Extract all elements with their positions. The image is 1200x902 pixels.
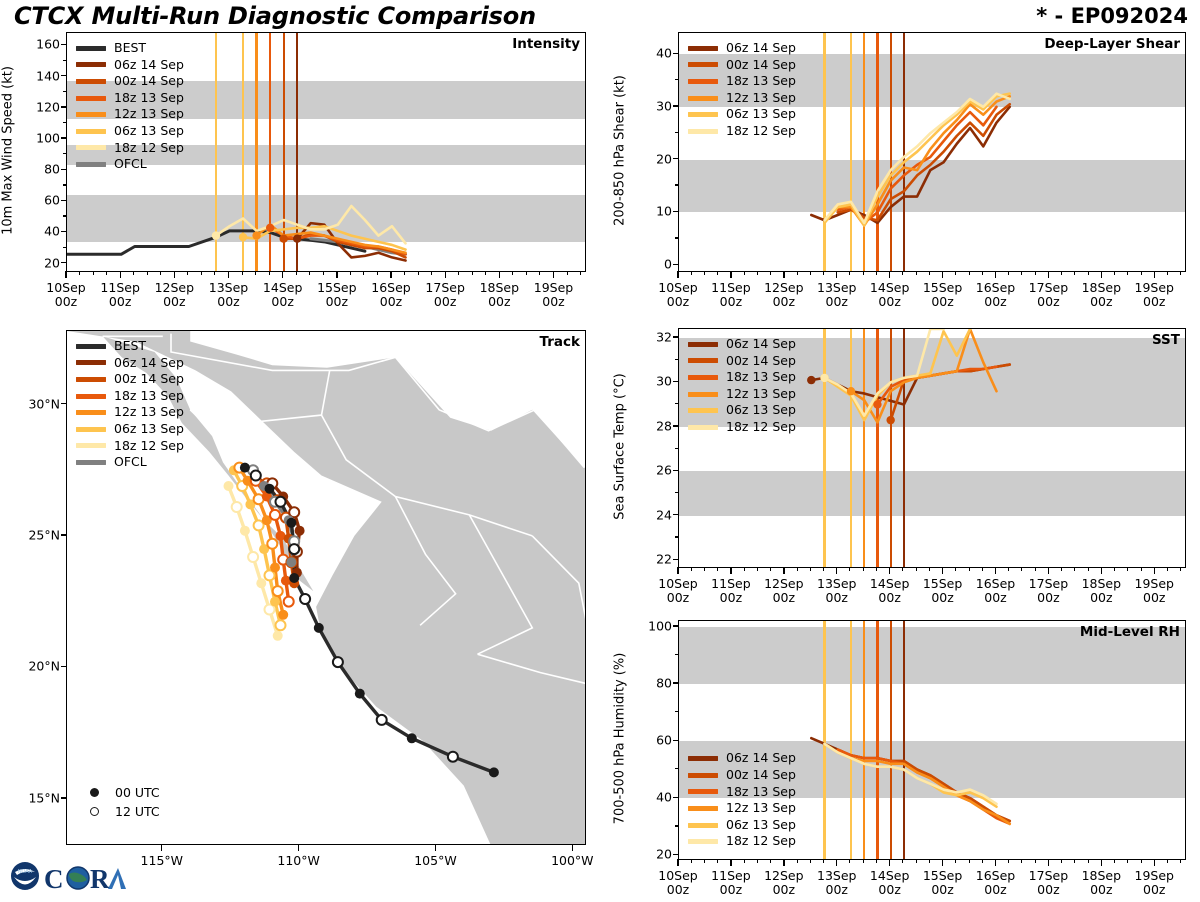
x-minor-tick (580, 271, 581, 275)
track-marker-12utc (448, 752, 458, 762)
x-tick-label: 11Sep00z (100, 281, 139, 310)
legend-label: 12z 13 Sep (114, 108, 184, 121)
x-tick-mark (889, 271, 890, 278)
x-minor-tick (160, 271, 161, 275)
legend-item[interactable]: 12z 13 Sep (76, 404, 184, 421)
legend-label: 12z 13 Sep (114, 406, 184, 419)
x-tick-mark (677, 567, 678, 574)
legend-item[interactable]: 06z 14 Sep (688, 40, 796, 57)
track-marker-12utc (267, 539, 277, 549)
legend-item[interactable]: 12z 13 Sep (688, 386, 796, 403)
track-marker-12utc (333, 657, 343, 667)
x-minor-tick (717, 271, 718, 275)
legend-item[interactable]: 06z 14 Sep (688, 750, 796, 767)
panel-sst: SST222426283032Sea Surface Temp (°C)10Se… (678, 328, 1186, 568)
legend-item[interactable]: 06z 14 Sep (76, 57, 184, 74)
x-tick-label: 11Sep00z (711, 577, 750, 606)
legend-item[interactable]: 18z 12 Sep (688, 833, 796, 850)
init-marker (279, 235, 287, 243)
legend-item[interactable]: 18z 12 Sep (76, 438, 184, 455)
x-tick-label: 17Sep00z (425, 281, 464, 310)
legend-item[interactable]: 18z 13 Sep (688, 73, 796, 90)
x-tick-mark (120, 271, 121, 278)
x-minor-tick (1167, 271, 1168, 275)
storm-identifier: * - EP092024 (1036, 4, 1188, 28)
y-tick-label: 24 (638, 507, 672, 522)
x-minor-tick (929, 271, 930, 275)
init-marker (807, 376, 815, 384)
x-tick-mark (995, 859, 996, 866)
x-minor-tick (309, 271, 310, 275)
x-tick-label: 13Sep00z (209, 281, 248, 310)
y-tick-label: 20 (638, 151, 672, 166)
y-tick-label: 20 (26, 255, 60, 270)
x-tick-label: 14Sep00z (870, 869, 909, 898)
x-tick-mark (65, 271, 66, 278)
legend-color-swatch (688, 342, 718, 347)
legend-color-swatch (76, 79, 106, 84)
legend-label: BEST (114, 42, 146, 55)
legend-label: 18z 13 Sep (726, 75, 796, 88)
legend-item[interactable]: 06z 13 Sep (688, 817, 796, 834)
x-minor-tick (744, 567, 745, 571)
x-minor-tick (810, 271, 811, 275)
x-tick-label: 19Sep00z (1135, 281, 1174, 310)
legend-color-swatch (76, 394, 106, 399)
legend-label: 18z 12 Sep (114, 142, 184, 155)
series-line (825, 329, 944, 416)
x-tick-label: 19Sep00z (1135, 869, 1174, 898)
x-minor-tick (1074, 859, 1075, 863)
x-minor-tick (255, 271, 256, 275)
legend-item[interactable]: 06z 13 Sep (688, 402, 796, 419)
panel-title-rh: Mid-Level RH (1080, 624, 1180, 640)
x-minor-tick (1180, 859, 1181, 863)
legend-color-swatch (688, 358, 718, 363)
track-marker-00utc (489, 767, 499, 777)
x-minor-tick (485, 271, 486, 275)
x-minor-tick (691, 271, 692, 275)
legend-item[interactable]: OFCL (76, 454, 184, 471)
x-tick-mark (677, 271, 678, 278)
legend-item[interactable]: 06z 13 Sep (688, 106, 796, 123)
x-minor-tick (214, 271, 215, 275)
panel-rh: Mid-Level RH20406080100700-500 hPa Humid… (678, 620, 1186, 860)
track-marker-12utc (251, 471, 261, 481)
y-axis-label-shear: 200-850 hPa Shear (kt) (613, 31, 628, 271)
x-minor-tick (982, 567, 983, 571)
y-axis-label-sst: Sea Surface Temp (°C) (613, 327, 628, 567)
x-minor-tick (770, 567, 771, 571)
legend-item[interactable]: 06z 14 Sep (76, 355, 184, 372)
x-minor-tick (1114, 859, 1115, 863)
legend-item[interactable]: 18z 12 Sep (688, 123, 796, 140)
legend-label: 00z 14 Sep (726, 59, 796, 72)
x-tick-mark (1154, 567, 1155, 574)
legend-label: BEST (114, 340, 146, 353)
x-tick-label: 16Sep00z (976, 281, 1015, 310)
x-minor-tick (1021, 859, 1022, 863)
x-minor-tick (1141, 271, 1142, 275)
x-minor-tick (458, 271, 459, 275)
x-minor-tick (418, 271, 419, 275)
legend-color-swatch (76, 344, 106, 349)
x-minor-tick (797, 271, 798, 275)
x-minor-tick (757, 567, 758, 571)
legend-item[interactable]: 06z 13 Sep (76, 123, 184, 140)
x-tick-mark (228, 271, 229, 278)
y-tick-label: 10 (638, 204, 672, 219)
x-tick-label: 15Sep00z (923, 281, 962, 310)
legend-intensity: BEST06z 14 Sep00z 14 Sep18z 13 Sep12z 13… (76, 40, 184, 173)
x-tick-mark (336, 271, 337, 278)
x-minor-tick (1035, 271, 1036, 275)
x-minor-tick (512, 271, 513, 275)
marker-legend-item: 12 UTC (86, 802, 160, 821)
track-marker-12utc (248, 552, 258, 562)
x-minor-tick (717, 859, 718, 863)
track-marker-00utc (256, 578, 266, 588)
x-minor-tick (1127, 271, 1128, 275)
x-minor-tick (916, 271, 917, 275)
legend-label: 18z 12 Sep (114, 440, 184, 453)
legend-color-swatch (76, 96, 106, 101)
x-tick-label: 14Sep00z (263, 281, 302, 310)
x-minor-tick (704, 271, 705, 275)
x-minor-tick (955, 859, 956, 863)
x-minor-tick (916, 859, 917, 863)
x-tick-mark (282, 271, 283, 278)
y-tick-label: 0 (638, 257, 672, 272)
init-marker (820, 374, 828, 382)
x-minor-tick (704, 859, 705, 863)
lon-tick-label: 105°W (414, 854, 456, 868)
x-minor-tick (823, 567, 824, 571)
legend-color-swatch (688, 129, 718, 134)
x-tick-mark (1154, 271, 1155, 278)
x-tick-mark (995, 271, 996, 278)
y-tick-label: 120 (26, 99, 60, 114)
legend-item[interactable]: 06z 13 Sep (76, 421, 184, 438)
x-tick-mark (942, 859, 943, 866)
x-minor-tick (969, 567, 970, 571)
legend-color-swatch (76, 360, 106, 365)
track-marker-00utc (240, 463, 250, 473)
x-tick-label: 19Sep00z (1135, 577, 1174, 606)
legend-item[interactable]: 00z 14 Sep (76, 371, 184, 388)
y-tick-label: 26 (638, 463, 672, 478)
svg-text:NOAA: NOAA (18, 869, 33, 875)
x-tick-label: 15Sep00z (923, 577, 962, 606)
x-minor-tick (797, 567, 798, 571)
x-tick-mark (783, 567, 784, 574)
x-minor-tick (106, 271, 107, 275)
legend-item[interactable]: 00z 14 Sep (688, 767, 796, 784)
legend-label: 18z 13 Sep (726, 371, 796, 384)
legend-color-swatch (688, 408, 718, 413)
series-line (877, 367, 996, 405)
x-tick-label: 18Sep00z (1082, 577, 1121, 606)
track-marker-00utc (240, 526, 250, 536)
legend-label: 18z 13 Sep (114, 92, 184, 105)
x-minor-tick (79, 271, 80, 275)
x-tick-label: 10Sep00z (658, 577, 697, 606)
x-tick-label: 10Sep00z (46, 281, 85, 310)
x-minor-tick (1008, 567, 1009, 571)
legend-label: 18z 12 Sep (726, 125, 796, 138)
x-minor-tick (691, 859, 692, 863)
init-marker (252, 231, 260, 239)
legend-item[interactable]: 06z 14 Sep (688, 336, 796, 353)
legend-item[interactable]: 12z 13 Sep (76, 106, 184, 123)
legend-color-swatch (688, 823, 718, 828)
x-minor-tick (472, 271, 473, 275)
x-minor-tick (1061, 567, 1062, 571)
track-marker-12utc (273, 586, 283, 596)
legend-label: 06z 14 Sep (726, 42, 796, 55)
x-minor-tick (863, 859, 864, 863)
x-minor-tick (1074, 271, 1075, 275)
x-minor-tick (1127, 859, 1128, 863)
legend-label: 06z 13 Sep (726, 404, 796, 417)
x-tick-mark (1101, 567, 1102, 574)
track-marker-00utc (355, 689, 365, 699)
x-tick-mark (730, 271, 731, 278)
x-tick-mark (445, 271, 446, 278)
x-tick-label: 12Sep00z (764, 577, 803, 606)
init-marker (886, 416, 894, 424)
legend-label: 06z 13 Sep (726, 108, 796, 121)
legend-item[interactable]: BEST (76, 338, 184, 355)
legend-shear: 06z 14 Sep00z 14 Sep18z 13 Sep12z 13 Sep… (688, 40, 796, 140)
legend-color-swatch (688, 756, 718, 761)
legend-label: 12z 13 Sep (726, 802, 796, 815)
legend-item[interactable]: 18z 13 Sep (76, 388, 184, 405)
track-marker-12utc (377, 715, 387, 725)
lon-tick-mark (435, 844, 436, 851)
x-tick-mark (730, 567, 731, 574)
x-tick-label: 18Sep00z (480, 281, 519, 310)
x-tick-mark (174, 271, 175, 278)
x-minor-tick (377, 271, 378, 275)
marker-legend-label: 00 UTC (115, 785, 160, 800)
legend-sst: 06z 14 Sep00z 14 Sep18z 13 Sep12z 13 Sep… (688, 336, 796, 436)
legend-item[interactable]: 18z 12 Sep (76, 140, 184, 157)
y-axis-label-intensity: 10m Max Wind Speed (kt) (1, 31, 16, 271)
track-marker-00utc (407, 733, 417, 743)
legend-label: 06z 14 Sep (726, 338, 796, 351)
x-minor-tick (1061, 859, 1062, 863)
x-tick-label: 10Sep00z (658, 281, 697, 310)
y-tick-label: 60 (638, 733, 672, 748)
track-marker-00utc (289, 573, 299, 583)
x-minor-tick (757, 859, 758, 863)
lon-tick-mark (572, 844, 573, 851)
legend-label: 18z 13 Sep (726, 786, 796, 799)
x-minor-tick (1088, 859, 1089, 863)
x-minor-tick (1008, 859, 1009, 863)
legend-item[interactable]: 18z 13 Sep (688, 784, 796, 801)
x-minor-tick (1021, 567, 1022, 571)
track-marker-00utc (286, 557, 296, 567)
lat-tick-label: 15°N (10, 790, 60, 805)
x-minor-tick (242, 271, 243, 275)
track-marker-12utc (270, 510, 280, 520)
x-minor-tick (1088, 271, 1089, 275)
x-minor-tick (982, 271, 983, 275)
x-minor-tick (1114, 567, 1115, 571)
legend-color-swatch (688, 806, 718, 811)
x-minor-tick (717, 567, 718, 571)
track-marker-00utc (295, 526, 305, 536)
x-minor-tick (691, 567, 692, 571)
legend-color-swatch (688, 789, 718, 794)
legend-label: 06z 13 Sep (726, 819, 796, 832)
x-minor-tick (982, 859, 983, 863)
legend-color-swatch (688, 46, 718, 51)
x-minor-tick (744, 271, 745, 275)
x-minor-tick (770, 271, 771, 275)
legend-item[interactable]: BEST (76, 40, 184, 57)
legend-label: 00z 14 Sep (114, 373, 184, 386)
x-minor-tick (929, 567, 930, 571)
legend-item[interactable]: 18z 12 Sep (688, 419, 796, 436)
panel-shear: Deep-Layer Shear010203040200-850 hPa She… (678, 32, 1186, 272)
x-tick-label: 13Sep00z (817, 577, 856, 606)
x-tick-mark (1101, 271, 1102, 278)
x-tick-label: 17Sep00z (1029, 281, 1068, 310)
x-tick-label: 10Sep00z (658, 869, 697, 898)
x-tick-mark (1101, 859, 1102, 866)
legend-label: 18z 12 Sep (726, 421, 796, 434)
x-tick-mark (942, 567, 943, 574)
cira-logo-icon: C R (44, 864, 126, 894)
init-marker (266, 224, 274, 232)
track-marker-00utc (270, 597, 280, 607)
y-tick-label: 30 (638, 98, 672, 113)
legend-color-swatch (76, 377, 106, 382)
x-minor-tick (1088, 567, 1089, 571)
legend-label: 12z 13 Sep (726, 92, 796, 105)
x-minor-tick (201, 271, 202, 275)
x-tick-mark (677, 859, 678, 866)
x-minor-tick (187, 271, 188, 275)
x-minor-tick (810, 859, 811, 863)
x-tick-label: 12Sep00z (155, 281, 194, 310)
x-minor-tick (350, 271, 351, 275)
x-tick-label: 15Sep00z (923, 869, 962, 898)
y-tick-label: 40 (26, 224, 60, 239)
legend-color-swatch (688, 112, 718, 117)
x-minor-tick (863, 271, 864, 275)
x-minor-tick (1127, 567, 1128, 571)
x-tick-mark (499, 271, 500, 278)
svg-text:R: R (90, 864, 110, 894)
legend-color-swatch (688, 96, 718, 101)
y-tick-label: 40 (638, 790, 672, 805)
x-minor-tick (916, 567, 917, 571)
legend-item[interactable]: OFCL (76, 156, 184, 173)
legend-color-swatch (688, 79, 718, 84)
legend-label: 00z 14 Sep (114, 75, 184, 88)
y-tick-label: 140 (26, 68, 60, 83)
x-tick-mark (836, 859, 837, 866)
x-minor-tick (955, 271, 956, 275)
x-minor-tick (823, 271, 824, 275)
x-tick-label: 13Sep00z (817, 281, 856, 310)
track-marker-00utc (314, 623, 324, 633)
x-minor-tick (363, 271, 364, 275)
x-tick-mark (889, 859, 890, 866)
x-minor-tick (133, 271, 134, 275)
x-minor-tick (849, 567, 850, 571)
x-tick-mark (836, 271, 837, 278)
x-minor-tick (797, 859, 798, 863)
x-tick-mark (783, 859, 784, 866)
x-minor-tick (704, 567, 705, 571)
x-minor-tick (404, 271, 405, 275)
y-tick-label: 22 (638, 552, 672, 567)
legend-item[interactable]: 00z 14 Sep (688, 353, 796, 370)
x-tick-label: 18Sep00z (1082, 869, 1121, 898)
x-minor-tick (1008, 271, 1009, 275)
x-minor-tick (1167, 859, 1168, 863)
legend-label: 00z 14 Sep (726, 769, 796, 782)
x-minor-tick (296, 271, 297, 275)
legend-color-swatch (688, 839, 718, 844)
x-minor-tick (929, 859, 930, 863)
lon-tick-label: 110°W (277, 854, 319, 868)
legend-label: 12z 13 Sep (726, 388, 796, 401)
legend-item[interactable]: 18z 13 Sep (688, 369, 796, 386)
legend-item[interactable]: 00z 14 Sep (76, 73, 184, 90)
legend-item[interactable]: 18z 13 Sep (76, 90, 184, 107)
x-minor-tick (955, 567, 956, 571)
legend-color-swatch (76, 129, 106, 134)
track-marker-00utc (273, 631, 283, 641)
x-minor-tick (863, 567, 864, 571)
agency-logos: NOAA C R (8, 858, 128, 898)
init-marker (847, 387, 855, 395)
init-marker (873, 400, 881, 408)
x-minor-tick (876, 567, 877, 571)
marker-00utc-icon (90, 788, 99, 797)
x-minor-tick (1021, 271, 1022, 275)
legend-color-swatch (76, 460, 106, 465)
legend-rh: 06z 14 Sep00z 14 Sep18z 13 Sep12z 13 Sep… (688, 750, 796, 850)
legend-item[interactable]: 00z 14 Sep (688, 57, 796, 74)
x-tick-mark (390, 271, 391, 278)
x-tick-label: 17Sep00z (1029, 869, 1068, 898)
y-tick-label: 80 (638, 675, 672, 690)
x-tick-label: 17Sep00z (1029, 577, 1068, 606)
x-minor-tick (902, 567, 903, 571)
y-tick-label: 60 (26, 193, 60, 208)
legend-color-swatch (76, 162, 106, 167)
x-minor-tick (1141, 859, 1142, 863)
x-tick-label: 11Sep00z (711, 281, 750, 310)
legend-label: 00z 14 Sep (726, 355, 796, 368)
legend-item[interactable]: 12z 13 Sep (688, 90, 796, 107)
noaa-logo-icon: NOAA (11, 862, 39, 890)
y-tick-label: 100 (638, 618, 672, 633)
lat-tick-label: 20°N (10, 659, 60, 674)
legend-item[interactable]: 12z 13 Sep (688, 800, 796, 817)
lon-tick-mark (298, 844, 299, 851)
lat-tick-label: 30°N (10, 396, 60, 411)
marker-legend: 00 UTC12 UTC (86, 783, 160, 821)
x-tick-label: 19Sep00z (534, 281, 573, 310)
